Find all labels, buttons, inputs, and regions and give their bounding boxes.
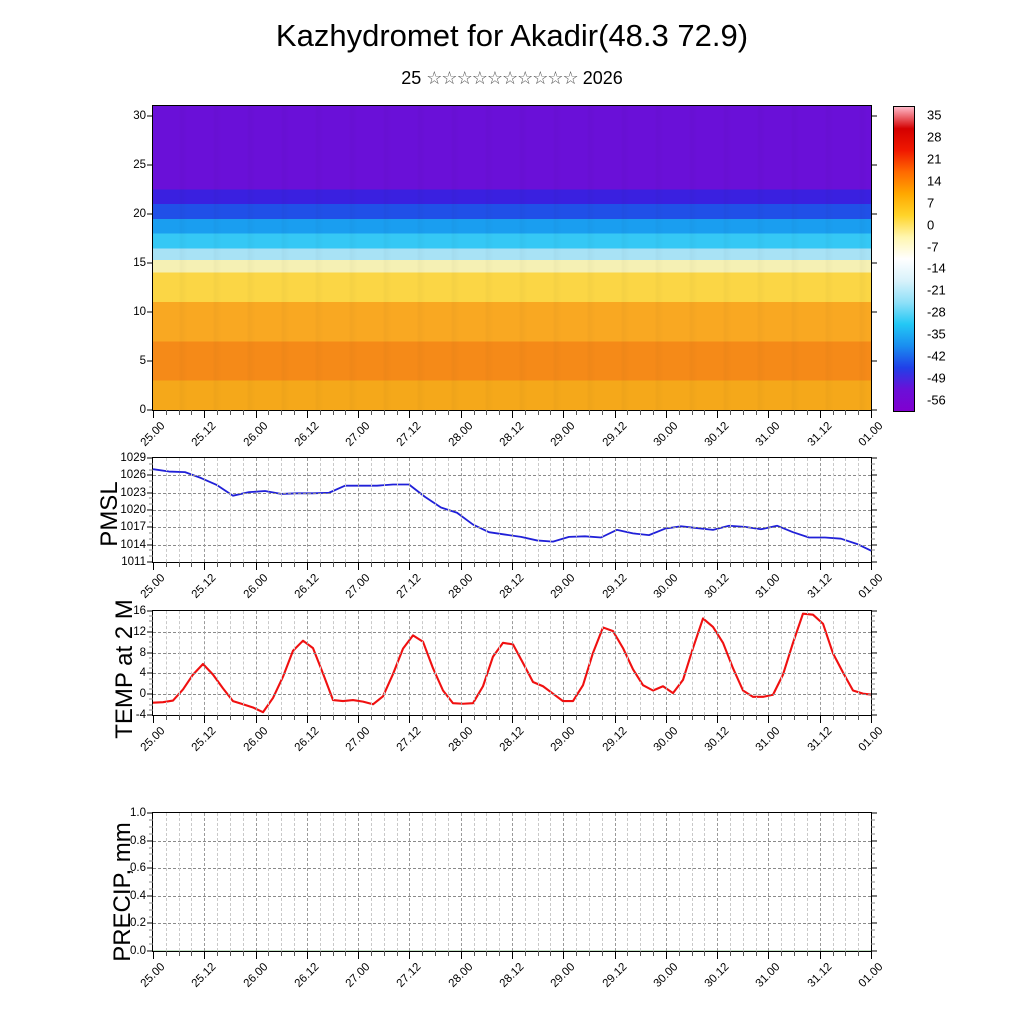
vertical-gridline (563, 458, 564, 562)
y-tick-mark (147, 631, 153, 632)
vertical-gridline (589, 813, 590, 951)
x-minor-tick (845, 562, 846, 567)
x-minor-tick (448, 410, 449, 415)
x-minor-tick (191, 410, 192, 415)
x-tick-label: 25.00 (139, 572, 168, 601)
x-minor-tick (397, 410, 398, 415)
y-minor-tick (149, 668, 153, 669)
x-tick-label: 31.12 (805, 961, 834, 990)
vertical-gridline (550, 458, 551, 562)
page-subtitle: 25 ☆☆☆☆☆☆☆☆☆☆ 2026 (0, 68, 1024, 89)
x-tick-mark (615, 715, 616, 723)
x-minor-tick (640, 562, 641, 567)
y-minor-tick (871, 944, 875, 945)
y-minor-tick (871, 486, 875, 487)
x-minor-tick (730, 562, 731, 567)
vertical-gridline (204, 611, 205, 715)
x-minor-tick (499, 715, 500, 720)
y-minor-tick (871, 556, 875, 557)
x-tick-mark (307, 562, 308, 570)
y-minor-tick (871, 854, 875, 855)
vertical-gridline (204, 813, 205, 951)
x-tick-mark (717, 951, 718, 959)
colorbar-tick-label: -42 (915, 348, 946, 363)
y-tick-mark (871, 360, 877, 361)
x-tick-mark (666, 715, 667, 723)
x-tick-label: 31.00 (754, 961, 783, 990)
x-minor-tick (179, 562, 180, 567)
x-minor-tick (435, 410, 436, 415)
x-tick-mark (512, 562, 513, 570)
x-minor-tick (486, 715, 487, 720)
x-minor-tick (371, 715, 372, 720)
x-tick-mark (563, 715, 564, 723)
vertical-gridline (474, 458, 475, 562)
y-minor-tick (871, 647, 875, 648)
x-tick-label: 31.00 (754, 572, 783, 601)
x-minor-tick (230, 715, 231, 720)
vertical-gridline (166, 611, 167, 715)
x-minor-tick (807, 951, 808, 956)
x-tick-label: 26.00 (241, 961, 270, 990)
vertical-gridline (563, 611, 564, 715)
vertical-gridline (820, 813, 821, 951)
vertical-gridline (717, 611, 718, 715)
x-minor-tick (730, 715, 731, 720)
x-minor-tick (833, 410, 834, 415)
x-tick-label: 30.12 (703, 961, 732, 990)
vertical-gridline (538, 611, 539, 715)
y-minor-tick (871, 704, 875, 705)
x-tick-mark (768, 562, 769, 570)
y-minor-tick (149, 916, 153, 917)
x-minor-tick (422, 715, 423, 720)
y-tick-mark (147, 262, 153, 263)
x-minor-tick (499, 951, 500, 956)
x-tick-mark (871, 715, 872, 723)
x-minor-tick (294, 951, 295, 956)
vertical-gridline (230, 611, 231, 715)
y-minor-tick (149, 637, 153, 638)
x-minor-tick (486, 410, 487, 415)
vertical-gridline (358, 813, 359, 951)
x-minor-tick (679, 562, 680, 567)
colorbar-tick-labels: 3528211470-7-14-21-28-35-42-49-56 (893, 106, 915, 412)
vertical-gridline (243, 813, 244, 951)
x-tick-mark (512, 410, 513, 418)
x-minor-tick (474, 715, 475, 720)
x-minor-tick (704, 715, 705, 720)
x-minor-tick (486, 562, 487, 567)
x-minor-tick (550, 715, 551, 720)
vertical-gridline (179, 458, 180, 562)
x-minor-tick (474, 562, 475, 567)
temp2m-panel: -4048121625.0025.1226.0026.1227.0027.122… (152, 610, 872, 716)
x-minor-tick (320, 715, 321, 720)
vertical-gridline (627, 458, 628, 562)
x-tick-mark (871, 951, 872, 959)
vertical-gridline (666, 813, 667, 951)
vertical-gridline (461, 813, 462, 951)
y-tick-mark (871, 262, 877, 263)
y-tick-mark (871, 510, 877, 511)
x-minor-tick (525, 410, 526, 415)
x-minor-tick (320, 951, 321, 956)
vertical-gridline (615, 611, 616, 715)
vertical-gridline (679, 611, 680, 715)
vertical-gridline (627, 813, 628, 951)
subtitle-month-glyphs: ☆☆☆☆☆☆☆☆☆☆ (426, 68, 577, 88)
x-minor-tick (640, 410, 641, 415)
vertical-gridline (397, 458, 398, 562)
vertical-gridline (256, 813, 257, 951)
y-minor-tick (149, 819, 153, 820)
x-minor-tick (833, 951, 834, 956)
subtitle-day: 25 (401, 68, 421, 88)
x-minor-tick (576, 562, 577, 567)
x-tick-label: 01.00 (857, 725, 886, 754)
x-minor-tick (704, 951, 705, 956)
pmsl-plot-area[interactable] (153, 458, 871, 562)
x-minor-tick (333, 715, 334, 720)
vertical-gridline (820, 458, 821, 562)
x-minor-tick (191, 562, 192, 567)
x-tick-label: 25.00 (139, 420, 168, 449)
x-minor-tick (435, 715, 436, 720)
x-tick-label: 26.00 (241, 725, 270, 754)
vertical-gridline (307, 611, 308, 715)
x-minor-tick (807, 715, 808, 720)
vertical-gridline (525, 813, 526, 951)
x-tick-mark (256, 715, 257, 723)
x-tick-mark (512, 715, 513, 723)
x-minor-tick (794, 715, 795, 720)
y-minor-tick (871, 902, 875, 903)
x-tick-label: 27.12 (395, 572, 424, 601)
colorbar-tick-label: -28 (915, 305, 946, 320)
x-minor-tick (550, 562, 551, 567)
x-tick-label: 25.12 (190, 572, 219, 601)
x-minor-tick (576, 410, 577, 415)
x-minor-tick (781, 410, 782, 415)
x-tick-label: 29.12 (600, 961, 629, 990)
y-tick-mark (147, 311, 153, 312)
vertical-gridline (807, 813, 808, 951)
x-minor-tick (230, 562, 231, 567)
pmsl-panel: 101110141017102010231026102925.0025.1226… (152, 457, 872, 563)
vertical-gridline (550, 611, 551, 715)
x-tick-mark (153, 410, 154, 418)
x-minor-tick (384, 410, 385, 415)
vertical-gridline (858, 611, 859, 715)
x-minor-tick (653, 951, 654, 956)
y-minor-tick (871, 916, 875, 917)
x-tick-mark (512, 951, 513, 959)
y-minor-tick (149, 538, 153, 539)
x-minor-tick (627, 951, 628, 956)
temp2m-plot-area[interactable] (153, 611, 871, 715)
y-tick-mark (147, 895, 153, 896)
x-tick-mark (461, 410, 462, 418)
x-minor-tick (371, 410, 372, 415)
vertical-gridline (486, 458, 487, 562)
x-tick-mark (204, 562, 205, 570)
vertical-gridline (384, 458, 385, 562)
colorbar-tick-label: -56 (915, 392, 946, 407)
y-minor-tick (149, 930, 153, 931)
colorbar-tick-label: 28 (915, 130, 941, 145)
x-tick-label: 26.12 (292, 961, 321, 990)
x-tick-label: 30.12 (703, 420, 732, 449)
x-tick-mark (409, 715, 410, 723)
x-minor-tick (756, 715, 757, 720)
x-minor-tick (166, 715, 167, 720)
y-minor-tick (871, 678, 875, 679)
x-minor-tick (191, 951, 192, 956)
x-minor-tick (833, 715, 834, 720)
cross-section-panel: 05101520253025.0025.1226.0026.1227.0027.… (152, 105, 872, 411)
x-tick-mark (256, 410, 257, 418)
vertical-gridline (448, 611, 449, 715)
y-minor-tick (149, 521, 153, 522)
x-minor-tick (845, 951, 846, 956)
vertical-gridline (397, 813, 398, 951)
y-minor-tick (149, 626, 153, 627)
y-minor-tick (149, 704, 153, 705)
y-tick-mark (147, 611, 153, 612)
x-minor-tick (422, 562, 423, 567)
y-minor-tick (871, 463, 875, 464)
y-minor-tick (149, 937, 153, 938)
y-minor-tick (871, 833, 875, 834)
x-tick-label: 01.00 (857, 572, 886, 601)
y-minor-tick (871, 847, 875, 848)
x-minor-tick (858, 410, 859, 415)
vertical-gridline (333, 458, 334, 562)
x-tick-label: 01.00 (857, 420, 886, 449)
vertical-gridline (794, 458, 795, 562)
vertical-gridline (461, 611, 462, 715)
x-minor-tick (781, 715, 782, 720)
y-minor-tick (871, 861, 875, 862)
y-minor-tick (871, 689, 875, 690)
y-tick-mark (871, 213, 877, 214)
x-minor-tick (217, 562, 218, 567)
y-tick-mark (147, 923, 153, 924)
vertical-gridline (230, 458, 231, 562)
x-minor-tick (281, 715, 282, 720)
vertical-gridline (294, 611, 295, 715)
x-tick-label: 26.12 (292, 572, 321, 601)
y-minor-tick (149, 833, 153, 834)
vertical-gridline (268, 611, 269, 715)
vertical-gridline (371, 813, 372, 951)
x-minor-tick (640, 951, 641, 956)
vertical-gridline (358, 458, 359, 562)
precip-plot-area[interactable] (153, 813, 871, 951)
x-minor-tick (191, 715, 192, 720)
x-tick-mark (615, 951, 616, 959)
vertical-gridline (384, 611, 385, 715)
x-minor-tick (807, 562, 808, 567)
x-minor-tick (730, 410, 731, 415)
y-minor-tick (871, 626, 875, 627)
cross-section-plot-area[interactable] (153, 106, 871, 410)
vertical-gridline (307, 458, 308, 562)
y-tick-mark (871, 840, 877, 841)
y-tick-mark (147, 694, 153, 695)
vertical-gridline (294, 813, 295, 951)
x-minor-tick (576, 715, 577, 720)
y-minor-tick (149, 944, 153, 945)
vertical-gridline (333, 813, 334, 951)
x-minor-tick (243, 951, 244, 956)
vertical-gridline (640, 813, 641, 951)
vertical-gridline (538, 813, 539, 951)
x-tick-mark (563, 562, 564, 570)
vertical-gridline (692, 458, 693, 562)
vertical-gridline (217, 813, 218, 951)
x-minor-tick (525, 715, 526, 720)
vertical-gridline (794, 611, 795, 715)
x-minor-tick (756, 951, 757, 956)
vertical-gridline (486, 813, 487, 951)
x-tick-label: 27.12 (395, 725, 424, 754)
x-tick-mark (768, 951, 769, 959)
x-tick-label: 26.00 (241, 420, 270, 449)
field-texture (153, 106, 871, 410)
vertical-gridline (781, 458, 782, 562)
y-minor-tick (149, 826, 153, 827)
x-minor-tick (589, 410, 590, 415)
x-tick-mark (820, 410, 821, 418)
vertical-gridline (422, 611, 423, 715)
y-minor-tick (871, 657, 875, 658)
x-minor-tick (384, 715, 385, 720)
x-tick-label: 31.12 (805, 420, 834, 449)
y-minor-tick (871, 533, 875, 534)
y-tick-mark (147, 544, 153, 545)
vertical-gridline (243, 611, 244, 715)
vertical-gridline (499, 813, 500, 951)
x-minor-tick (243, 715, 244, 720)
x-minor-tick (230, 410, 231, 415)
x-minor-tick (627, 410, 628, 415)
x-tick-mark (717, 410, 718, 418)
vertical-gridline (512, 813, 513, 951)
vertical-gridline (499, 611, 500, 715)
x-tick-label: 27.00 (344, 725, 373, 754)
x-tick-mark (666, 410, 667, 418)
y-minor-tick (149, 621, 153, 622)
x-tick-label: 31.00 (754, 420, 783, 449)
vertical-gridline (576, 611, 577, 715)
y-minor-tick (871, 882, 875, 883)
x-tick-label: 28.00 (446, 420, 475, 449)
y-tick-mark (871, 115, 877, 116)
y-minor-tick (871, 699, 875, 700)
vertical-gridline (602, 458, 603, 562)
x-minor-tick (743, 951, 744, 956)
x-minor-tick (499, 410, 500, 415)
x-minor-tick (166, 410, 167, 415)
vertical-gridline (320, 611, 321, 715)
x-tick-label: 28.12 (498, 420, 527, 449)
y-tick-mark (147, 492, 153, 493)
y-minor-tick (149, 550, 153, 551)
x-minor-tick (679, 715, 680, 720)
vertical-gridline (589, 611, 590, 715)
x-minor-tick (179, 715, 180, 720)
x-tick-mark (666, 562, 667, 570)
y-tick-mark (871, 544, 877, 545)
vertical-gridline (230, 813, 231, 951)
x-minor-tick (422, 951, 423, 956)
vertical-gridline (845, 813, 846, 951)
x-minor-tick (166, 951, 167, 956)
vertical-gridline (525, 458, 526, 562)
y-tick-mark (147, 164, 153, 165)
x-tick-label: 30.12 (703, 725, 732, 754)
x-tick-mark (358, 410, 359, 418)
colorbar-tick-label: 7 (915, 195, 934, 210)
y-minor-tick (149, 469, 153, 470)
vertical-gridline (794, 813, 795, 951)
x-tick-label: 28.12 (498, 725, 527, 754)
x-minor-tick (602, 715, 603, 720)
y-minor-tick (149, 861, 153, 862)
x-tick-mark (307, 715, 308, 723)
x-minor-tick (371, 951, 372, 956)
vertical-gridline (768, 458, 769, 562)
y-tick-mark (871, 673, 877, 674)
y-minor-tick (149, 888, 153, 889)
colorbar-tick-label: 35 (915, 108, 941, 123)
vertical-gridline (281, 813, 282, 951)
vertical-gridline (820, 611, 821, 715)
vertical-gridline (294, 458, 295, 562)
x-minor-tick (679, 951, 680, 956)
y-minor-tick (149, 689, 153, 690)
x-minor-tick (435, 951, 436, 956)
vertical-gridline (833, 611, 834, 715)
y-minor-tick (149, 647, 153, 648)
x-minor-tick (692, 951, 693, 956)
y-tick-mark (147, 115, 153, 116)
vertical-gridline (679, 458, 680, 562)
vertical-gridline (717, 813, 718, 951)
x-minor-tick (550, 410, 551, 415)
x-tick-label: 25.00 (139, 725, 168, 754)
y-tick-mark (871, 611, 877, 612)
temp2m-axis-label: TEMP at 2 M (111, 554, 139, 784)
x-minor-tick (397, 951, 398, 956)
x-minor-tick (448, 715, 449, 720)
x-tick-label: 30.00 (651, 725, 680, 754)
vertical-gridline (563, 813, 564, 951)
vertical-gridline (256, 611, 257, 715)
vertical-gridline (743, 813, 744, 951)
y-tick-mark (147, 510, 153, 511)
x-tick-mark (871, 562, 872, 570)
vertical-gridline (461, 458, 462, 562)
x-minor-tick (333, 410, 334, 415)
y-minor-tick (149, 683, 153, 684)
vertical-gridline (243, 458, 244, 562)
y-tick-mark (871, 652, 877, 653)
x-tick-label: 26.00 (241, 572, 270, 601)
x-tick-mark (461, 951, 462, 959)
